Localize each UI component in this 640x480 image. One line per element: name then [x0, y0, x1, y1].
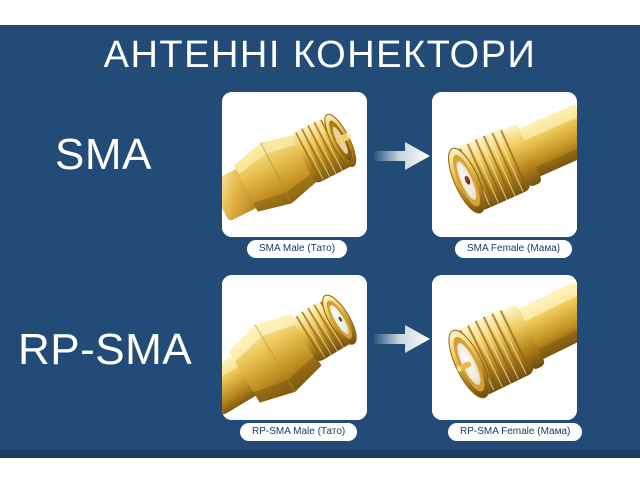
rp-sma-female-connector-image [432, 275, 577, 420]
row-label-rp-sma: RP-SMA [18, 325, 192, 375]
caption-rp-sma-male: RP-SMA Male (Тато) [240, 423, 357, 441]
page-title: АНТЕННІ КОНЕКТОРИ [0, 32, 640, 78]
arrow-right-icon-top [372, 139, 432, 173]
infographic-root: АНТЕННІ КОНЕКТОРИ SMA RP-SMA [0, 0, 640, 480]
sma-female-connector-image [432, 92, 577, 237]
bottom-accent-strip [0, 450, 640, 458]
arrow-right-icon-bottom [372, 322, 432, 356]
caption-sma-female: SMA Female (Мама) [455, 240, 572, 258]
rp-sma-male-connector-image [222, 275, 367, 420]
card-rp-sma-male[interactable] [222, 275, 367, 420]
caption-sma-male: SMA Male (Тато) [247, 240, 347, 258]
sma-male-connector-image [222, 92, 367, 237]
card-sma-male[interactable] [222, 92, 367, 237]
card-sma-female[interactable] [432, 92, 577, 237]
card-rp-sma-female[interactable] [432, 275, 577, 420]
caption-rp-sma-female: RP-SMA Female (Мама) [448, 423, 582, 441]
row-label-sma: SMA [55, 130, 152, 180]
